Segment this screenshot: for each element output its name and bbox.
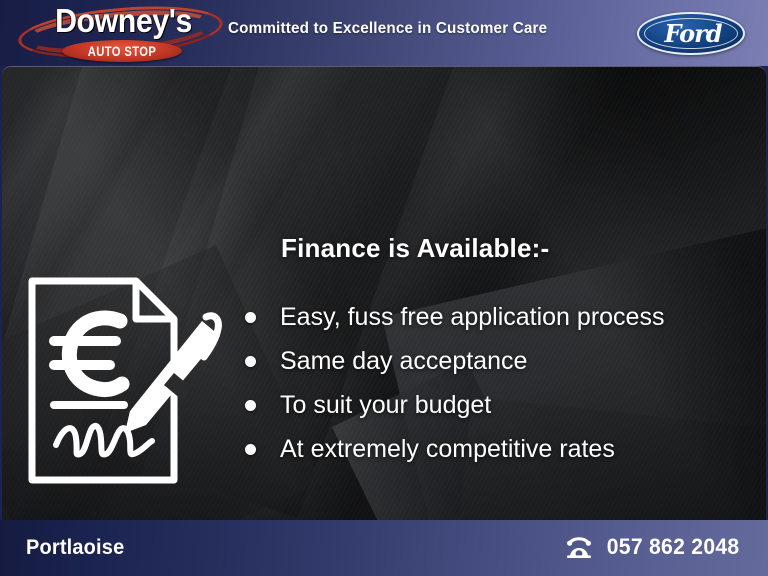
bullet-dot-icon bbox=[245, 356, 256, 367]
advert-banner: Downey's AUTO STOP Committed to Excellen… bbox=[0, 0, 768, 576]
ford-logo[interactable]: Ford bbox=[637, 12, 745, 55]
auto-stop-badge: AUTO STOP bbox=[62, 40, 182, 62]
auto-stop-label: AUTO STOP bbox=[74, 43, 170, 59]
bullet-dot-icon bbox=[245, 312, 256, 323]
telephone-icon bbox=[565, 535, 593, 559]
list-item-label: Easy, fuss free application process bbox=[280, 303, 664, 331]
contact-phone[interactable]: 057 862 2048 bbox=[565, 534, 742, 560]
tagline: Committed to Excellence in Customer Care bbox=[228, 20, 547, 38]
footer-bar: Portlaoise 057 862 2048 bbox=[0, 520, 768, 576]
list-item-label: To suit your budget bbox=[280, 391, 491, 419]
list-item: Easy, fuss free application process bbox=[242, 295, 752, 339]
list-item: At extremely competitive rates bbox=[242, 427, 752, 471]
list-item: To suit your budget bbox=[242, 383, 752, 427]
brand-name: Downey's bbox=[52, 3, 195, 39]
list-item: Same day acceptance bbox=[242, 339, 752, 383]
page-title: Finance is Available:- bbox=[281, 233, 549, 264]
list-item-label: At extremely competitive rates bbox=[280, 435, 615, 463]
header-bar: Downey's AUTO STOP Committed to Excellen… bbox=[0, 0, 768, 66]
list-item-label: Same day acceptance bbox=[280, 347, 527, 375]
ford-wordmark: Ford bbox=[639, 21, 745, 47]
bullet-dot-icon bbox=[245, 400, 256, 411]
location-label: Portlaoise bbox=[26, 536, 124, 560]
phone-number: 057 862 2048 bbox=[607, 534, 740, 560]
bullet-dot-icon bbox=[245, 444, 256, 455]
benefits-list: Easy, fuss free application process Same… bbox=[242, 295, 752, 471]
finance-document-euro-signature-icon bbox=[24, 273, 224, 488]
downeys-logo[interactable]: Downey's AUTO STOP bbox=[18, 2, 223, 64]
main-panel: Finance is Available:- Easy, fuss free a… bbox=[2, 66, 766, 520]
